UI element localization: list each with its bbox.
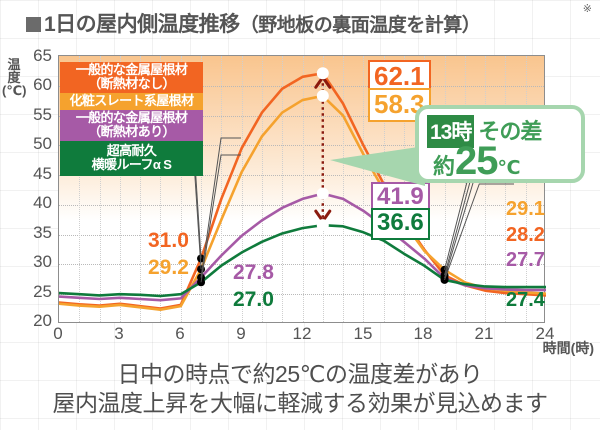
value-label-right-27-4: 27.4 xyxy=(506,290,545,310)
series-line-3 xyxy=(59,225,546,296)
asterisk-note-icon: ※ xyxy=(583,2,592,15)
value-label-left-31: 31.0 xyxy=(148,230,189,251)
callout-yaku: 約 xyxy=(433,154,455,179)
y-tick-55: 55 xyxy=(12,105,52,125)
callout-row-2: 約25℃ xyxy=(433,143,521,181)
caption: 日中の時点で約25℃の温度差があり 屋内温度上昇を大幅に軽減する効果が見込めます xyxy=(0,360,600,417)
difference-callout: 13時その差 約25℃ xyxy=(415,105,585,183)
caption-line-2: 屋内温度上昇を大幅に軽減する効果が見込めます xyxy=(0,389,600,418)
data-point-marker-5 xyxy=(317,90,329,102)
legend-label-0-line1: 一般的な金属屋根材 xyxy=(60,63,203,77)
legend-item-yokodan-roof[interactable]: 超高耐久 横暖ルーフα S xyxy=(60,141,203,176)
legend-label-3-line2: 横暖ルーフα S xyxy=(60,158,203,172)
legend-label-0-line2: （断熱材なし） xyxy=(60,77,203,91)
y-tick-45: 45 xyxy=(12,164,52,184)
legend-item-metal-with-insulation[interactable]: 一般的な金属屋根材 （断熱材あり） xyxy=(60,110,203,141)
value-label-left-27-0: 27.0 xyxy=(233,289,274,310)
y-tick-50: 50 xyxy=(12,134,52,154)
value-label-right-28-2: 28.2 xyxy=(506,225,545,245)
x-tick-3: 3 xyxy=(99,324,139,344)
bullet-square-icon xyxy=(26,17,41,32)
data-point-marker-6 xyxy=(317,188,329,200)
x-tick-9: 9 xyxy=(221,324,261,344)
value-label-peak-36: 36.6 xyxy=(371,208,430,240)
y-tick-40: 40 xyxy=(12,193,52,213)
callout-unit: ℃ xyxy=(498,158,521,179)
x-tick-21: 21 xyxy=(464,324,504,344)
page-title: 1日の屋内側温度推移（野地板の裏面温度を計算） xyxy=(26,8,480,38)
x-tick-0: 0 xyxy=(38,324,78,344)
legend-label-3-line1: 超高耐久 xyxy=(60,144,203,158)
value-label-left-27-8: 27.8 xyxy=(233,262,274,283)
x-tick-6: 6 xyxy=(160,324,200,344)
x-tick-18: 18 xyxy=(403,324,443,344)
legend-item-slate[interactable]: 化粧スレート系屋根材 xyxy=(60,93,203,110)
title-main: 1日の屋内側温度推移 xyxy=(44,13,240,36)
x-axis-title: 時間(時) xyxy=(543,338,594,358)
y-tick-60: 60 xyxy=(12,75,52,95)
value-label-right-27-7: 27.7 xyxy=(506,250,545,270)
value-label-right-29-1: 29.1 xyxy=(506,199,545,219)
callout-value: 25 xyxy=(455,139,498,183)
caption-line-1: 日中の時点で約25℃の温度差があり xyxy=(0,360,600,389)
y-tick-35: 35 xyxy=(12,223,52,243)
legend-label-2-line2: （断熱材あり） xyxy=(60,125,203,139)
y-tick-65: 65 xyxy=(12,46,52,66)
value-label-left-29: 29.2 xyxy=(148,257,189,278)
legend-item-metal-no-insulation[interactable]: 一般的な金属屋根材 （断熱材なし） xyxy=(60,62,203,93)
title-paren: （野地板の裏面温度を計算） xyxy=(240,15,481,36)
data-point-marker-7 xyxy=(317,219,329,231)
x-tick-12: 12 xyxy=(282,324,322,344)
legend-label-2-line1: 一般的な金属屋根材 xyxy=(60,111,203,125)
x-tick-15: 15 xyxy=(343,324,383,344)
y-tick-25: 25 xyxy=(12,282,52,302)
data-point-marker-4 xyxy=(317,67,329,79)
y-tick-30: 30 xyxy=(12,252,52,272)
chart-legend: 一般的な金属屋根材 （断熱材なし） 化粧スレート系屋根材 一般的な金属屋根材 （… xyxy=(60,62,203,176)
legend-label-1-line1: 化粧スレート系屋根材 xyxy=(60,94,203,108)
leader-line-7 xyxy=(445,184,514,280)
